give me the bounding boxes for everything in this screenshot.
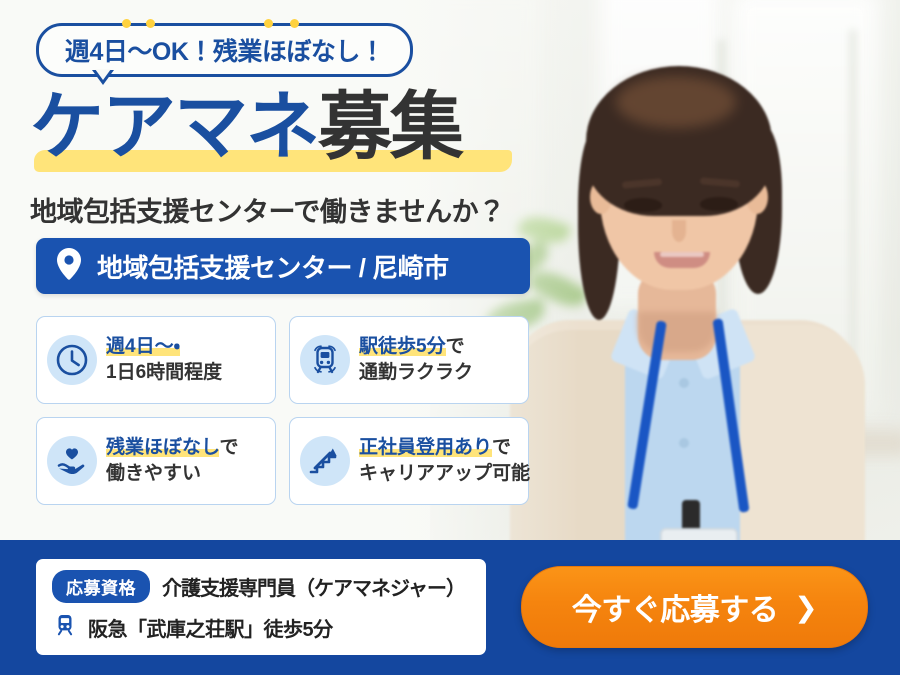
qualification-value: 介護支援専門員（ケアマネジャー） (162, 572, 465, 601)
clock-icon (47, 335, 97, 385)
feature-line-2: 1日6時間程度 (106, 361, 222, 385)
feature-card-access-text: 駅徒歩5分で 通勤ラクラク (359, 335, 473, 385)
feature-card-overtime-text: 残業ほぼなしで 働きやすい (106, 436, 238, 486)
train-icon (300, 335, 350, 385)
top-badge: 週4日〜OK！残業ほぼなし！ (36, 23, 413, 77)
feature-card-career: 正社員登用ありで キャリアアップ可能 (289, 417, 529, 505)
apply-now-button[interactable]: 今すぐ応募する ❯ (521, 566, 868, 648)
badge-dot-3 (264, 19, 273, 28)
qualification-row: 応募資格 介護支援専門員（ケアマネジャー） (52, 570, 470, 603)
apply-now-label: 今すぐ応募する (572, 585, 779, 629)
feature-line-1: 残業ほぼなしで (106, 436, 238, 460)
train-icon (52, 612, 78, 643)
location-bar: 地域包括支援センター / 尼崎市 (36, 238, 530, 294)
access-row: 阪急「武庫之荘駅」徒歩5分 (52, 612, 470, 643)
feature-highlight: 残業ほぼなし (106, 437, 219, 458)
feature-line-2: 働きやすい (106, 462, 238, 486)
feature-card-schedule-text: 週4日〜・ 1日6時間程度 (106, 335, 222, 385)
feature-card-schedule: 週4日〜・ 1日6時間程度 (36, 316, 276, 404)
feature-suffix: で (446, 336, 465, 357)
feature-highlight: 正社員登用あり (359, 437, 492, 458)
feature-row-2: 残業ほぼなしで 働きやすい 正社員登用ありで キャリアアップ (36, 417, 530, 505)
stairs-arrow-icon (300, 436, 350, 486)
badge-dot-2 (146, 19, 155, 28)
headline-blue: ケアマネ (30, 85, 318, 168)
subtitle: 地域包括支援センターで働きませんか？ (30, 190, 505, 229)
feature-line-1: 駅徒歩5分で (359, 335, 473, 359)
top-badge-label: 週4日〜OK！残業ほぼなし！ (65, 32, 384, 68)
feature-highlight: 週4日〜・ (106, 336, 180, 357)
requirements-card: 応募資格 介護支援専門員（ケアマネジャー） 阪急「武庫之荘駅」徒歩5分 (36, 559, 486, 655)
job-ad-banner: 週4日〜OK！残業ほぼなし！ ケアマネ募集 地域包括支援センターで働きませんか？… (0, 0, 900, 675)
feature-cards: 週4日〜・ 1日6時間程度 (36, 316, 530, 518)
feature-line-1: 正社員登用ありで (359, 436, 530, 460)
feature-highlight: 駅徒歩5分 (359, 336, 446, 357)
map-pin-icon (54, 247, 84, 286)
feature-card-career-text: 正社員登用ありで キャリアアップ可能 (359, 436, 530, 486)
feature-card-overtime: 残業ほぼなしで 働きやすい (36, 417, 276, 505)
feature-suffix: で (492, 437, 511, 458)
chevron-right-icon: ❯ (794, 591, 817, 624)
heart-hand-icon (47, 436, 97, 486)
badge-dot-4 (290, 19, 299, 28)
access-text: 阪急「武庫之荘駅」徒歩5分 (88, 613, 333, 642)
badge-dot-1 (122, 19, 131, 28)
feature-line-2: キャリアアップ可能 (359, 462, 530, 486)
qualification-label: 応募資格 (52, 570, 150, 603)
feature-row-1: 週4日〜・ 1日6時間程度 (36, 316, 530, 404)
headline-dark: 募集 (318, 85, 462, 168)
feature-suffix: で (219, 437, 238, 458)
feature-line-2: 通勤ラクラク (359, 361, 473, 385)
feature-card-access: 駅徒歩5分で 通勤ラクラク (289, 316, 529, 404)
badge-tail-inner (95, 69, 111, 80)
location-label: 地域包括支援センター / 尼崎市 (97, 248, 449, 285)
page-title: ケアマネ募集 (30, 82, 550, 172)
headline-text: ケアマネ募集 (30, 82, 550, 172)
feature-line-1: 週4日〜・ (106, 335, 222, 359)
banner-content: 週4日〜OK！残業ほぼなし！ ケアマネ募集 地域包括支援センターで働きませんか？… (0, 0, 900, 675)
